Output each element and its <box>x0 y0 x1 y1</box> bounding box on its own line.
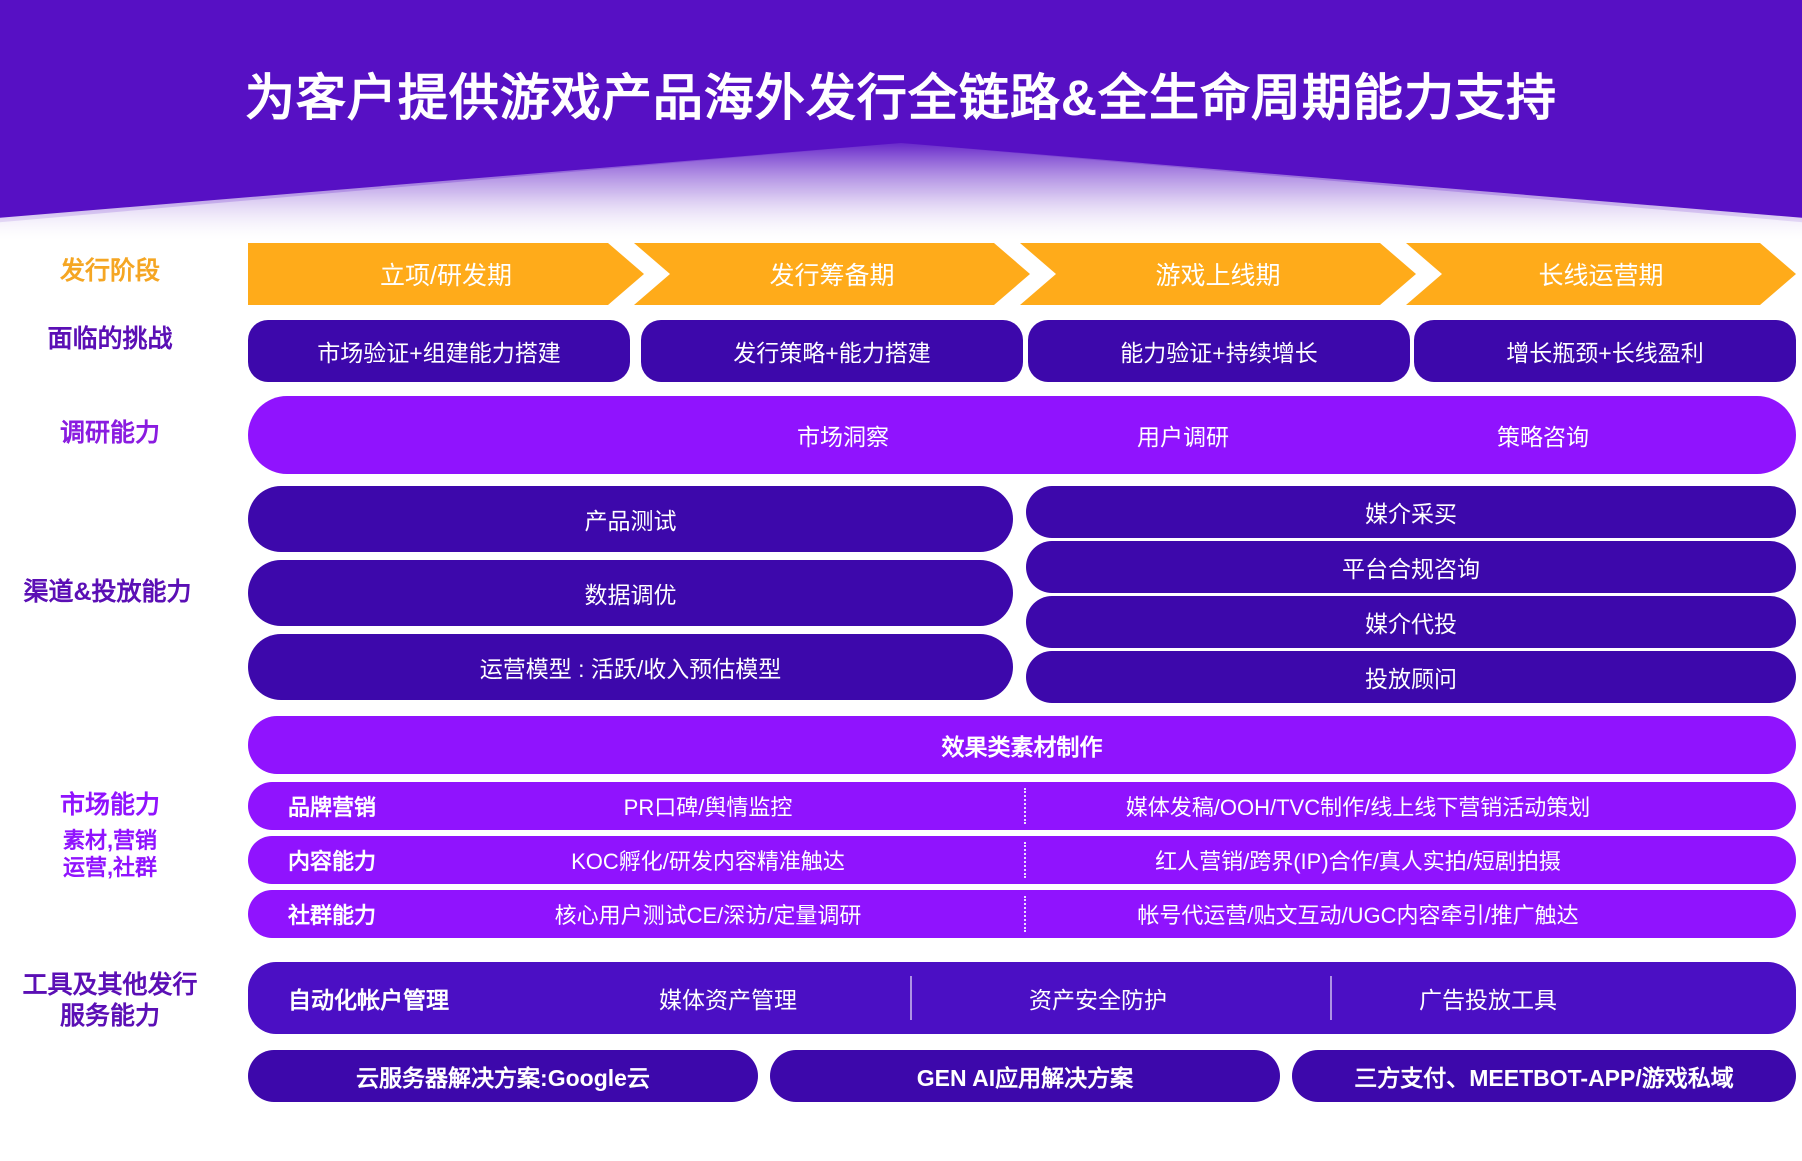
market-row-1-divider <box>1024 842 1026 878</box>
stage-chevron-3[interactable]: 长线运营期 <box>1406 243 1796 305</box>
market-row-1[interactable]: 内容能力 KOC孵化/研发内容精准触达 红人营销/跨界(IP)合作/真人实拍/短… <box>248 836 1796 884</box>
market-row-left: 核心用户测试CE/深访/定量调研 <box>498 898 918 930</box>
channel-label: 平台合规咨询 <box>1026 550 1796 584</box>
channel-left-0[interactable]: 产品测试 <box>248 486 1013 552</box>
tools-bar-item-2: 资产安全防护 <box>948 981 1248 1015</box>
challenge-card-0[interactable]: 市场验证+组建能力搭建 <box>248 320 630 382</box>
channel-label: 媒介采买 <box>1026 495 1796 529</box>
stage-label: 发行筹备期 <box>769 256 894 292</box>
challenge-card-1[interactable]: 发行策略+能力搭建 <box>641 320 1023 382</box>
market-row-name: 内容能力 <box>288 844 468 876</box>
market-row-left: KOC孵化/研发内容精准触达 <box>498 844 918 876</box>
stage-chevron-0[interactable]: 立项/研发期 <box>248 243 644 305</box>
market-row-right: 帐号代运营/贴文互动/UGC内容牵引/推广触达 <box>948 898 1768 930</box>
challenge-label: 发行策略+能力搭建 <box>641 334 1023 368</box>
channel-label: 投放顾问 <box>1026 660 1796 694</box>
stage-label: 游戏上线期 <box>1155 256 1280 292</box>
research-item-0: 市场洞察 <box>753 418 933 452</box>
research-item-2: 策略咨询 <box>1453 418 1633 452</box>
tools-bar-item-0: 自动化帐户管理 <box>288 981 518 1015</box>
tools-bar[interactable]: 自动化帐户管理 媒体资产管理 资产安全防护 广告投放工具 <box>248 962 1796 1034</box>
tools-pill-2[interactable]: 三方支付、MEETBOT-APP/游戏私域 <box>1292 1050 1796 1102</box>
channel-label: 运营模型 : 活跃/收入预估模型 <box>248 650 1013 684</box>
market-row-2[interactable]: 社群能力 核心用户测试CE/深访/定量调研 帐号代运营/贴文互动/UGC内容牵引… <box>248 890 1796 938</box>
tools-bar-divider-2 <box>1330 976 1332 1020</box>
market-banner-label: 效果类素材制作 <box>248 728 1796 762</box>
row-label-market-sub: 素材,营销 运营,社群 <box>10 828 210 882</box>
research-item-1: 用户调研 <box>1093 418 1273 452</box>
market-row-right: 红人营销/跨界(IP)合作/真人实拍/短剧拍摄 <box>948 844 1768 876</box>
market-row-left: PR口碑/舆情监控 <box>498 790 918 822</box>
row-label-research: 调研能力 <box>10 418 210 449</box>
channel-left-1[interactable]: 数据调优 <box>248 560 1013 626</box>
tools-pill-0[interactable]: 云服务器解决方案:Google云 <box>248 1050 758 1102</box>
channel-right-2[interactable]: 媒介代投 <box>1026 596 1796 648</box>
row-label-channel: 渠道&投放能力 <box>0 577 215 608</box>
channel-label: 产品测试 <box>248 502 1013 536</box>
stage-chevron-1[interactable]: 发行筹备期 <box>634 243 1030 305</box>
market-row-0-divider <box>1024 788 1026 824</box>
channel-label: 媒介代投 <box>1026 605 1796 639</box>
market-banner[interactable]: 效果类素材制作 <box>248 716 1796 774</box>
row-label-market-main: 市场能力 <box>10 790 210 821</box>
tools-bar-item-1: 媒体资产管理 <box>588 981 868 1015</box>
challenge-card-3[interactable]: 增长瓶颈+长线盈利 <box>1414 320 1796 382</box>
challenge-label: 增长瓶颈+长线盈利 <box>1414 334 1796 368</box>
market-row-0[interactable]: 品牌营销 PR口碑/舆情监控 媒体发稿/OOH/TVC制作/线上线下营销活动策划 <box>248 782 1796 830</box>
channel-right-3[interactable]: 投放顾问 <box>1026 651 1796 703</box>
market-row-name: 品牌营销 <box>288 790 468 822</box>
challenge-card-2[interactable]: 能力验证+持续增长 <box>1028 320 1410 382</box>
channel-right-1[interactable]: 平台合规咨询 <box>1026 541 1796 593</box>
tools-bar-divider-1 <box>910 976 912 1020</box>
market-row-name: 社群能力 <box>288 898 468 930</box>
stage-label: 立项/研发期 <box>380 256 512 292</box>
tools-pill-label: 云服务器解决方案:Google云 <box>248 1059 758 1093</box>
tools-pill-label: 三方支付、MEETBOT-APP/游戏私域 <box>1292 1059 1796 1093</box>
diagram-canvas: 发行阶段 面临的挑战 调研能力 渠道&投放能力 市场能力 素材,营销 运营,社群… <box>0 0 1802 1161</box>
channel-label: 数据调优 <box>248 576 1013 610</box>
challenge-label: 市场验证+组建能力搭建 <box>248 334 630 368</box>
tools-pill-label: GEN AI应用解决方案 <box>770 1059 1280 1093</box>
channel-left-2[interactable]: 运营模型 : 活跃/收入预估模型 <box>248 634 1013 700</box>
stage-chevron-2[interactable]: 游戏上线期 <box>1020 243 1416 305</box>
channel-right-0[interactable]: 媒介采买 <box>1026 486 1796 538</box>
research-band[interactable]: 市场洞察 用户调研 策略咨询 <box>248 396 1796 474</box>
row-label-stage: 发行阶段 <box>10 256 210 287</box>
tools-bar-item-3: 广告投放工具 <box>1338 981 1638 1015</box>
tools-pill-1[interactable]: GEN AI应用解决方案 <box>770 1050 1280 1102</box>
market-row-2-divider <box>1024 896 1026 932</box>
stage-label: 长线运营期 <box>1538 256 1663 292</box>
row-label-tools: 工具及其他发行 服务能力 <box>0 970 220 1031</box>
row-label-challenge: 面临的挑战 <box>10 324 210 355</box>
market-row-right: 媒体发稿/OOH/TVC制作/线上线下营销活动策划 <box>948 790 1768 822</box>
challenge-label: 能力验证+持续增长 <box>1028 334 1410 368</box>
